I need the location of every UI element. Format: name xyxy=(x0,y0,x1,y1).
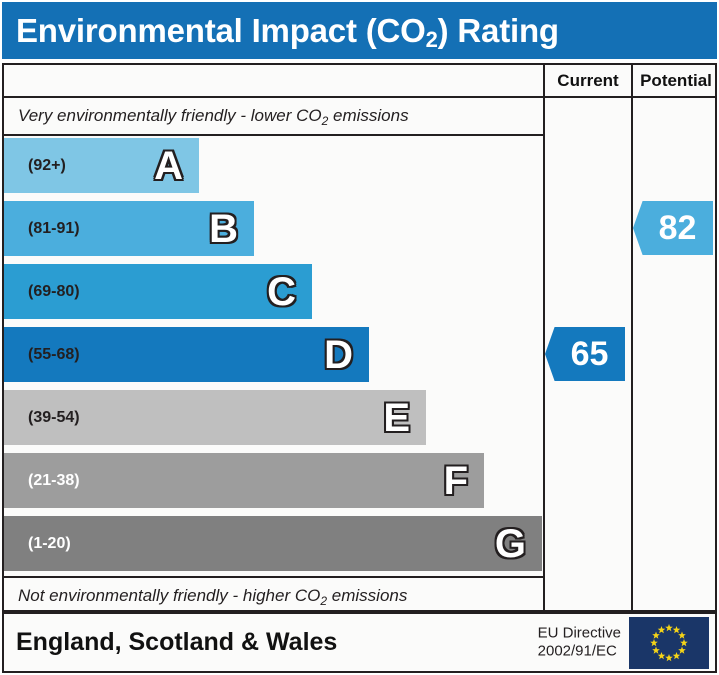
eu-star xyxy=(652,631,660,638)
caption-not-friendly: Not environmentally friendly - higher CO… xyxy=(4,578,543,614)
caption-bottom-suffix: emissions xyxy=(327,586,407,605)
column-divider-potential xyxy=(631,65,633,610)
rating-marker-current: 65 xyxy=(545,327,625,381)
eu-star xyxy=(665,654,673,661)
column-header-current: Current xyxy=(545,65,631,96)
band-a: (92+)A xyxy=(4,138,199,193)
eu-star xyxy=(678,646,686,653)
footer-directive-line2: 2002/91/EC xyxy=(538,643,621,662)
caption-very-friendly-text: Very environmentally friendly - lower CO… xyxy=(4,106,409,126)
band-range-label-b: (81-91) xyxy=(4,220,80,238)
eu-star xyxy=(680,639,688,646)
eu-flag-icon xyxy=(629,617,709,669)
rating-table: Current Potential Very environmentally f… xyxy=(2,63,717,612)
band-letter-e: E xyxy=(383,398,410,438)
eu-star xyxy=(673,651,681,658)
caption-bottom-subscript: 2 xyxy=(320,594,327,608)
caption-top-prefix: Very environmentally friendly - lower CO xyxy=(18,106,322,125)
band-c: (69-80)C xyxy=(4,264,312,319)
eu-star xyxy=(665,624,673,631)
band-e: (39-54)E xyxy=(4,390,426,445)
band-letter-d: D xyxy=(324,335,353,375)
eu-star xyxy=(658,626,666,633)
epc-environmental-impact-chart: Environmental Impact (CO2) Rating Curren… xyxy=(0,0,719,675)
band-letter-c: C xyxy=(267,272,296,312)
page-title: Environmental Impact (CO2) Rating xyxy=(2,12,559,50)
page-title-subscript: 2 xyxy=(426,27,438,52)
eu-flag-stars xyxy=(629,617,709,669)
eu-star xyxy=(658,651,666,658)
band-g: (1-20)G xyxy=(4,516,542,571)
band-list: (92+)A(81-91)B(69-80)C(55-68)D(39-54)E(2… xyxy=(4,136,543,576)
page-title-prefix: Environmental Impact (CO xyxy=(16,12,426,49)
band-range-label-d: (55-68) xyxy=(4,346,80,364)
band-b: (81-91)B xyxy=(4,201,254,256)
caption-bottom-prefix: Not environmentally friendly - higher CO xyxy=(18,586,320,605)
caption-top-subscript: 2 xyxy=(322,114,329,128)
column-divider-current xyxy=(543,65,545,610)
table-header-row: Current Potential xyxy=(4,65,715,98)
caption-not-friendly-text: Not environmentally friendly - higher CO… xyxy=(4,586,407,606)
eu-star xyxy=(673,626,681,633)
chart-header-banner: Environmental Impact (CO2) Rating xyxy=(2,2,717,59)
band-letter-g: G xyxy=(495,524,526,564)
footer-directive-line1: EU Directive xyxy=(538,624,621,643)
eu-star xyxy=(652,646,660,653)
band-f: (21-38)F xyxy=(4,453,484,508)
page-title-suffix: ) Rating xyxy=(438,12,559,49)
band-range-label-f: (21-38) xyxy=(4,472,80,490)
rating-value-potential: 82 xyxy=(650,211,697,245)
rating-value-current: 65 xyxy=(562,337,609,371)
chart-footer: England, Scotland & Wales EU Directive 2… xyxy=(2,612,717,673)
eu-star xyxy=(650,639,658,646)
caption-very-friendly: Very environmentally friendly - lower CO… xyxy=(4,98,543,134)
band-letter-f: F xyxy=(444,461,468,501)
band-range-label-g: (1-20) xyxy=(4,535,71,553)
band-range-label-c: (69-80) xyxy=(4,283,80,301)
band-letter-a: A xyxy=(154,146,183,186)
rating-marker-potential: 82 xyxy=(633,201,713,255)
band-range-label-a: (92+) xyxy=(4,157,66,175)
footer-region-label: England, Scotland & Wales xyxy=(4,628,337,657)
column-header-potential: Potential xyxy=(633,65,719,96)
band-d: (55-68)D xyxy=(4,327,369,382)
band-range-label-e: (39-54) xyxy=(4,409,80,427)
caption-top-suffix: emissions xyxy=(328,106,408,125)
band-letter-b: B xyxy=(209,209,238,249)
footer-directive: EU Directive 2002/91/EC xyxy=(538,624,621,662)
eu-star xyxy=(678,631,686,638)
